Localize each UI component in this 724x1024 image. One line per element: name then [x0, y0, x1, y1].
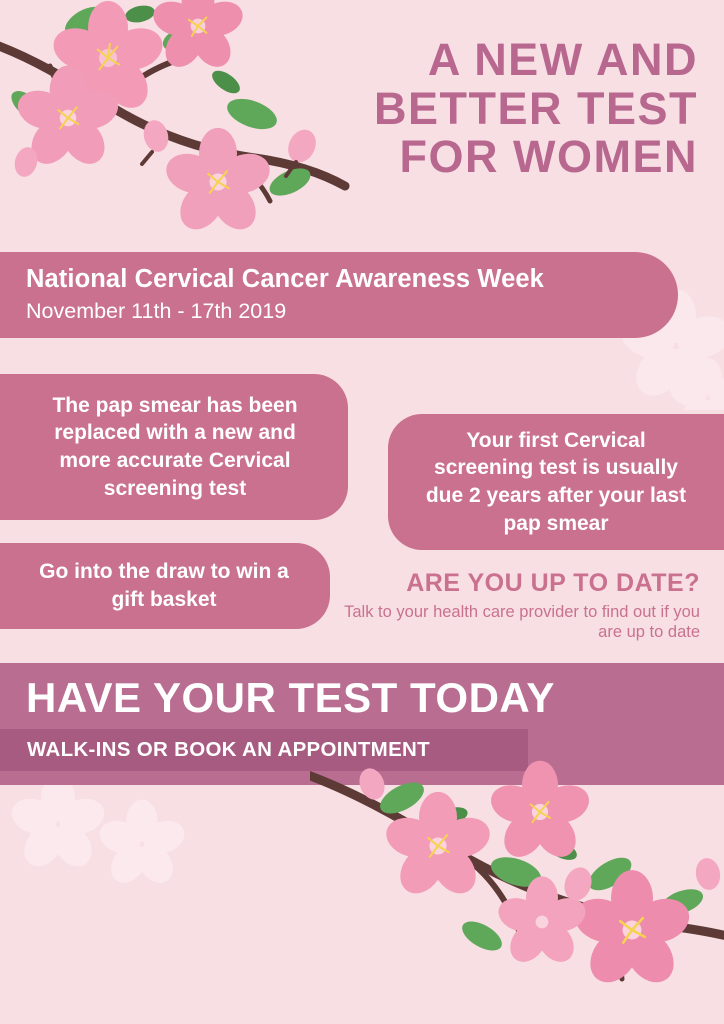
awareness-week-title: National Cervical Cancer Awareness Week	[26, 264, 678, 295]
faint-blossom-left-icon	[10, 780, 200, 910]
headline-line-2: BETTER TEST	[278, 85, 698, 134]
up-to-date-question: ARE YOU UP TO DATE?	[340, 570, 700, 598]
info-bubble-pap-smear: The pap smear has been replaced with a n…	[0, 374, 348, 520]
have-your-test-today-headline: HAVE YOUR TEST TODAY	[26, 676, 555, 720]
info-bubble-first-screening-text: Your first Cervical screening test is us…	[414, 427, 698, 538]
poster-canvas: A NEW AND BETTER TEST FOR WOMEN National…	[0, 0, 724, 1024]
walk-ins-bar: WALK-INS OR BOOK AN APPOINTMENT	[0, 729, 528, 771]
awareness-week-dates: November 11th - 17th 2019	[26, 299, 678, 325]
up-to-date-subtext: Talk to your health care provider to fin…	[340, 602, 700, 643]
walk-ins-text: WALK-INS OR BOOK AN APPOINTMENT	[27, 738, 430, 762]
up-to-date-block: ARE YOU UP TO DATE? Talk to your health …	[340, 570, 700, 643]
info-bubble-first-screening: Your first Cervical screening test is us…	[388, 414, 724, 550]
headline-line-3: FOR WOMEN	[278, 133, 698, 182]
awareness-week-banner: National Cervical Cancer Awareness Week …	[0, 252, 678, 338]
headline-line-1: A NEW AND	[278, 36, 698, 85]
info-bubble-pap-smear-text: The pap smear has been replaced with a n…	[28, 392, 322, 503]
poster-footer: South West AMS Aboriginal Medical Servic…	[0, 904, 724, 1024]
info-bubble-gift-basket: Go into the draw to win a gift basket	[0, 543, 330, 629]
info-bubble-gift-basket-text: Go into the draw to win a gift basket	[24, 558, 304, 613]
poster-headline: A NEW AND BETTER TEST FOR WOMEN	[278, 36, 698, 182]
